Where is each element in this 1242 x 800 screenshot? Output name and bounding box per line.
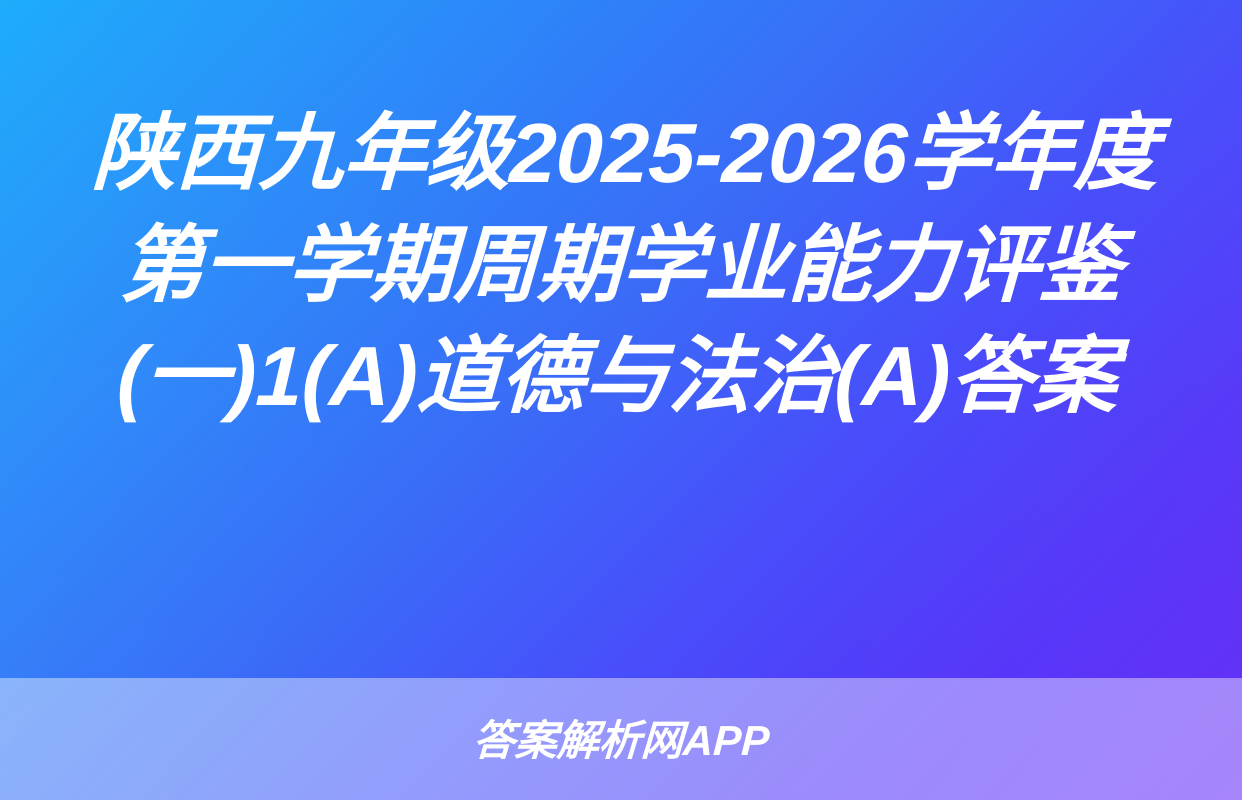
cover-card: 陕西九年级2025-2026学年度第一学期周期学业能力评鉴(一)1(A)道德与法… [0, 0, 1242, 800]
title-block: 陕西九年级2025-2026学年度第一学期周期学业能力评鉴(一)1(A)道德与法… [0, 98, 1242, 433]
page-title: 陕西九年级2025-2026学年度第一学期周期学业能力评鉴(一)1(A)道德与法… [50, 98, 1192, 433]
watermark-band: 答案解析网APP [0, 678, 1242, 800]
watermark-label: 答案解析网APP [472, 720, 771, 762]
